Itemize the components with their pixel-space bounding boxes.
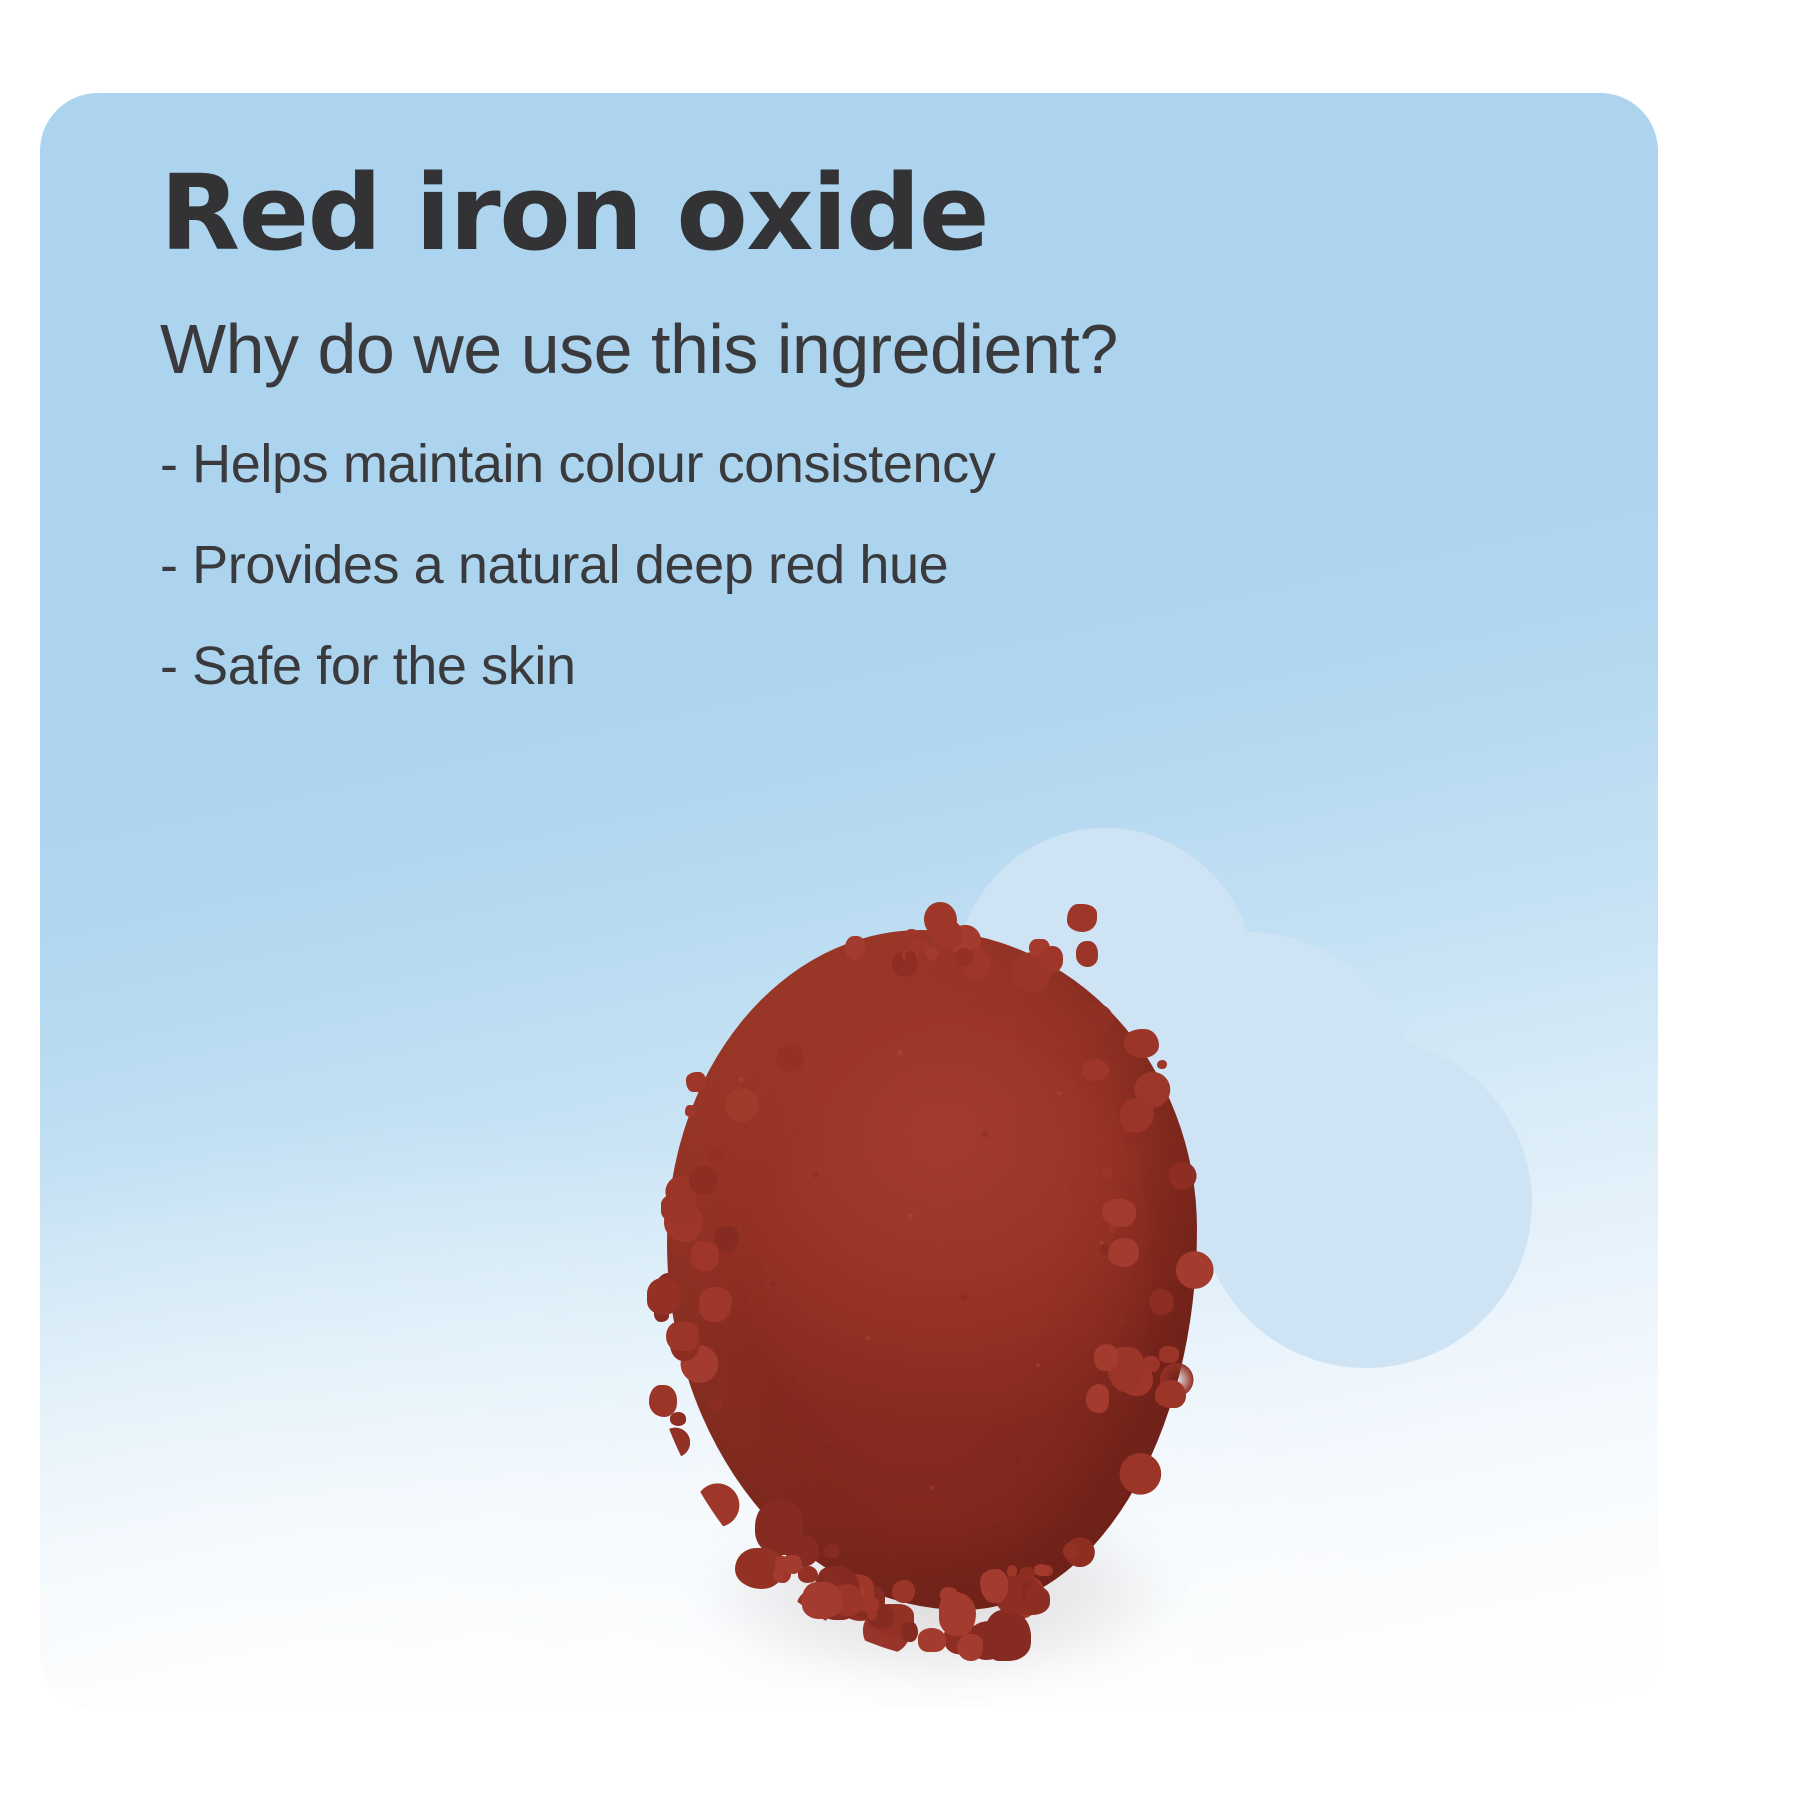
card-subtitle: Why do we use this ingredient?	[160, 311, 1340, 388]
powder-crumb	[661, 1193, 698, 1224]
powder-crumb	[926, 947, 938, 960]
powder-crumb	[706, 1148, 724, 1163]
powder-crumb	[845, 936, 865, 960]
powder-crumb	[1102, 1199, 1136, 1227]
powder-crumb	[1149, 1289, 1173, 1315]
powder-crumb	[1067, 904, 1097, 932]
red-iron-oxide-powder-heap	[655, 900, 1215, 1700]
powder-crumb	[957, 1634, 983, 1662]
powder-crumb	[939, 1592, 976, 1636]
powder-crumb	[1076, 941, 1098, 967]
screenshot-stage: Red iron oxide Why do we use this ingred…	[0, 0, 1800, 1800]
powder-crumb	[802, 1582, 842, 1619]
powder-crumb	[867, 1611, 878, 1620]
powder-crumb	[699, 1287, 732, 1322]
powder-crumb	[1086, 1384, 1109, 1413]
benefit-list: - Helps maintain colour consistency - Pr…	[160, 436, 1340, 694]
powder-crumb	[783, 1555, 801, 1574]
powder-crumb	[773, 1568, 784, 1582]
powder-crumb	[1019, 1567, 1035, 1582]
powder-crumb	[1094, 1344, 1118, 1370]
powder-crumb	[715, 1226, 739, 1252]
powder-crumb	[685, 1105, 696, 1117]
powder-crumb	[1159, 1346, 1179, 1363]
powder-crumb	[649, 1385, 677, 1416]
powder-crumb	[918, 1628, 946, 1652]
list-item: - Helps maintain colour consistency	[160, 436, 1340, 493]
powder-body	[655, 900, 1215, 1640]
powder-crumb	[689, 1166, 717, 1195]
card-content: Red iron oxide Why do we use this ingred…	[160, 157, 1340, 738]
powder-crumb	[1108, 1238, 1140, 1266]
powder-crumbs	[655, 900, 1215, 1700]
list-item: - Safe for the skin	[160, 638, 1340, 695]
powder-crumb	[955, 948, 974, 966]
powder-crumb	[1157, 1060, 1167, 1069]
list-item: - Provides a natural deep red hue	[160, 537, 1340, 594]
powder-crumb	[1108, 1225, 1116, 1234]
powder-crumb	[708, 1399, 723, 1411]
page-title: Red iron oxide	[160, 157, 1340, 269]
powder-crumb	[1039, 946, 1063, 973]
powder-crumb	[823, 1544, 839, 1558]
powder-crumb	[1034, 1564, 1049, 1576]
powder-crumb	[905, 951, 916, 963]
powder-crumb	[666, 1322, 699, 1351]
powder-crumb	[892, 1580, 916, 1603]
powder-crumb	[670, 1412, 686, 1426]
powder-crumb	[1063, 1543, 1079, 1559]
powder-crumb	[647, 1278, 681, 1315]
powder-crumb	[1124, 1029, 1160, 1058]
powder-crumb	[924, 902, 957, 937]
powder-crumb	[1102, 1168, 1111, 1178]
powder-crumb	[686, 1072, 705, 1092]
powder-crumb	[1106, 1310, 1126, 1326]
powder-crumb	[980, 1569, 1008, 1603]
powder-crumb	[1143, 1356, 1160, 1371]
powder-crumb	[1082, 1059, 1109, 1081]
powder-crumb	[690, 1241, 719, 1271]
powder-crumb	[1025, 1586, 1044, 1609]
powder-crumb	[1155, 1380, 1186, 1408]
powder-crumb	[1120, 1098, 1154, 1133]
powder-crumb	[901, 1622, 918, 1642]
